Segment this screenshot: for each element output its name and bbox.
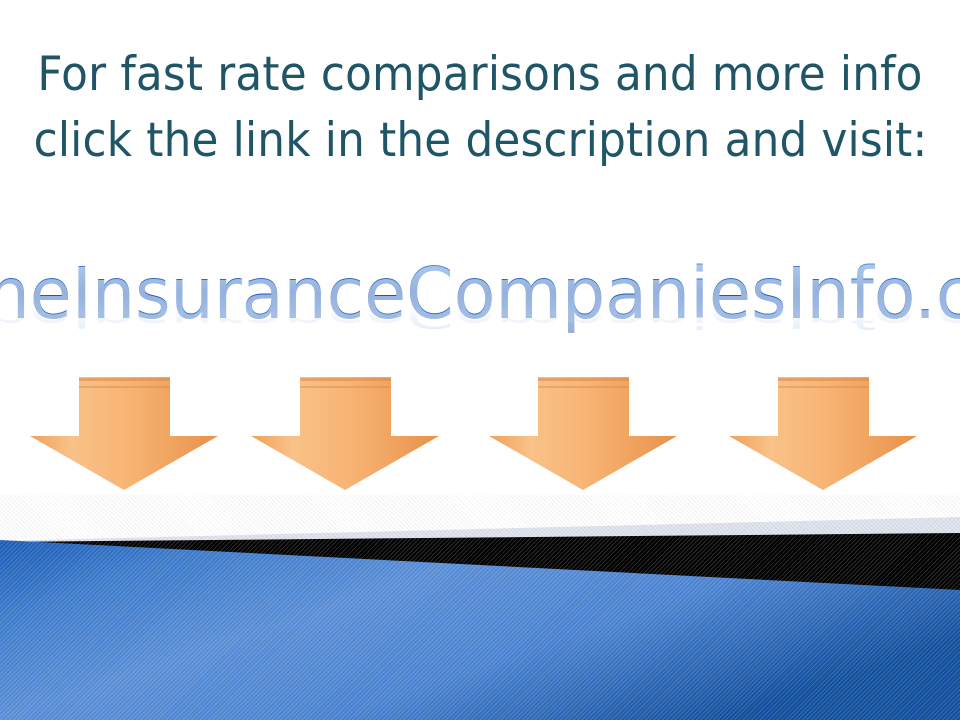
footer-banner (0, 495, 960, 720)
headline-line-1: For fast rate comparisons and more info (34, 42, 927, 108)
headline-block: For fast rate comparisons and more info … (0, 42, 960, 182)
down-arrow-icon-1 (22, 372, 227, 492)
headline-line-2: click the link in the description and vi… (34, 108, 927, 174)
url-wordmark-text: neInsuranceCompaniesInfo.c (0, 253, 960, 335)
url-wordmark-block: neInsuranceCompaniesInfo.c neInsuranceCo… (0, 253, 960, 363)
down-arrow-icon-4 (721, 372, 926, 492)
down-arrow-icon-2 (243, 372, 448, 492)
slide-canvas: For fast rate comparisons and more info … (0, 0, 960, 720)
down-arrow-icon-3 (481, 372, 686, 492)
arrow-row (0, 372, 960, 497)
